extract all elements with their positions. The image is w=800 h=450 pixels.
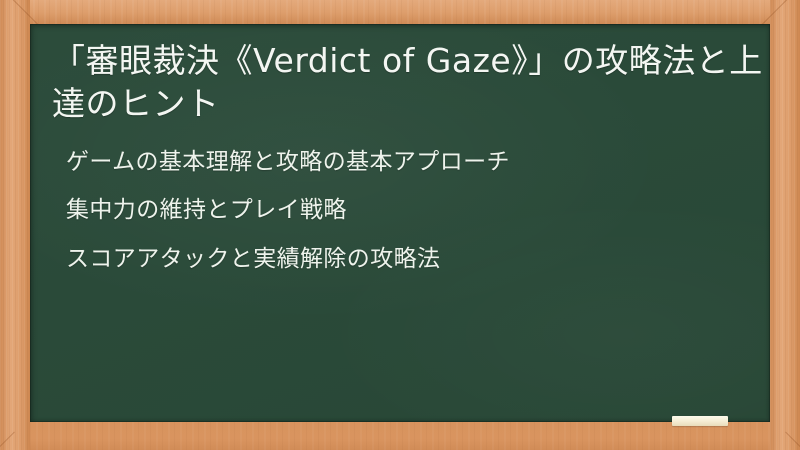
list-item: スコアアタックと実績解除の攻略法: [66, 245, 770, 274]
slide-title: 「審眼裁決《Verdict of Gaze》」の攻略法と上達のヒント: [52, 40, 770, 126]
chalk-stick-icon: [672, 416, 728, 426]
topic-list: ゲームの基本理解と攻略の基本アプローチ 集中力の維持とプレイ戦略 スコアアタック…: [52, 148, 770, 274]
frame-rail-right: [770, 0, 800, 450]
frame-rail-bottom: [0, 422, 800, 450]
chalkboard-content: 「審眼裁決《Verdict of Gaze》」の攻略法と上達のヒント ゲームの基…: [30, 24, 770, 422]
frame-rail-left: [0, 0, 30, 450]
list-item: 集中力の維持とプレイ戦略: [66, 196, 770, 225]
frame-rail-top: [0, 0, 800, 24]
list-item: ゲームの基本理解と攻略の基本アプローチ: [66, 148, 770, 177]
blackboard-slide: 「審眼裁決《Verdict of Gaze》」の攻略法と上達のヒント ゲームの基…: [0, 0, 800, 450]
chalkboard-surface: 「審眼裁決《Verdict of Gaze》」の攻略法と上達のヒント ゲームの基…: [30, 24, 770, 422]
